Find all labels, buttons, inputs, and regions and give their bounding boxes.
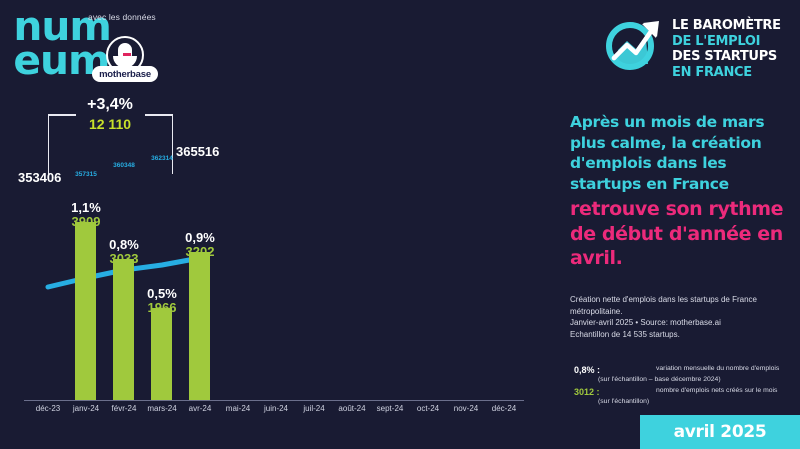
legend-row-num: 3012 : nombre d'emplois nets créés sur l… (570, 386, 798, 397)
source-line-1: Création nette d'emplois dans les startu… (570, 294, 792, 317)
legend-pct-sub: (sur l'échantillon – base décembre 2024) (598, 375, 721, 385)
cumulative-label-avr24: 365516 (176, 144, 219, 159)
axis-tick-fevr24: févr-24 (112, 404, 137, 413)
axis-tick-oct24: oct-24 (417, 404, 439, 413)
axis-tick-sept24: sept-24 (377, 404, 404, 413)
chart-legend: 0,8% : variation mensuelle du nombre d'e… (570, 364, 798, 408)
bar-value-mars24: 1966 (148, 300, 177, 315)
axis-tick-nov24: nov-24 (454, 404, 478, 413)
numeum-logo-line-2: eum (13, 44, 82, 78)
axis-tick-juil24: juil-24 (303, 404, 324, 413)
chart-axis-line (24, 400, 524, 401)
headline-part-2: retrouve son rythme de début d'année en … (570, 197, 798, 269)
bar-pct-avr24: 0,9% (185, 230, 215, 245)
axis-tick-aout24: août-24 (338, 404, 365, 413)
right-panel: Après un mois de mars plus calme, la cré… (570, 0, 800, 449)
axis-tick-mai24: mai-24 (226, 404, 250, 413)
motherbase-label: motherbase (92, 66, 158, 82)
legend-num-sub: (sur l'échantillon) (598, 397, 649, 407)
legend-row-num-sub: (sur l'échantillon) (570, 397, 798, 408)
axis-tick-avr24: avr-24 (189, 404, 212, 413)
axis-tick-janv24: janv-24 (73, 404, 99, 413)
cumulative-label-fevr24: 360348 (113, 162, 135, 169)
axis-tick-mars24: mars-24 (147, 404, 176, 413)
employment-chart: +3,4% 12 110 353406 357315 360348 362314… (0, 92, 545, 422)
numeum-logo: num eum (14, 10, 82, 82)
bar-pct-fevr24: 0,8% (109, 237, 139, 252)
bar-value-fevr24: 3033 (110, 251, 139, 266)
bar-avr24[interactable] (189, 252, 210, 400)
motherbase-slot-icon (123, 53, 131, 56)
bar-mars24[interactable] (151, 308, 172, 400)
legend-pct-desc: variation mensuelle du nombre d'emplois (656, 364, 779, 374)
cumulative-label-janv24: 357315 (75, 171, 97, 178)
tagline: avec les données (88, 12, 156, 22)
axis-tick-dec24: déc-24 (492, 404, 516, 413)
legend-row-pct: 0,8% : variation mensuelle du nombre d'e… (570, 364, 798, 375)
bar-value-avr24: 3202 (186, 244, 215, 259)
cumulative-label-dec23: 353406 (18, 170, 61, 185)
bar-janv24[interactable] (75, 222, 96, 400)
source-line-2: Janvier-avril 2025 • Source: motherbase.… (570, 317, 792, 329)
headline-part-1: Après un mois de mars plus calme, la cré… (570, 112, 798, 194)
bar-pct-janv24: 1,1% (71, 200, 101, 215)
source-line-3: Echantillon de 14 535 startups. (570, 329, 792, 341)
cumulative-label-mars24: 362314 (151, 155, 173, 162)
month-badge: avril 2025 (640, 415, 800, 449)
bar-pct-mars24: 0,5% (147, 286, 177, 301)
legend-num-desc: nombre d'emplois nets créés sur le mois (656, 386, 777, 396)
axis-tick-dec23: déc-23 (36, 404, 60, 413)
headline: Après un mois de mars plus calme, la cré… (570, 112, 798, 270)
bar-value-janv24: 3909 (72, 214, 101, 229)
axis-tick-juin24: juin-24 (264, 404, 288, 413)
motherbase-logo: motherbase (92, 36, 158, 88)
source-note: Création nette d'emplois dans les startu… (570, 294, 792, 340)
legend-row-pct-sub: (sur l'échantillon – base décembre 2024) (570, 375, 798, 386)
bar-fevr24[interactable] (113, 259, 134, 400)
